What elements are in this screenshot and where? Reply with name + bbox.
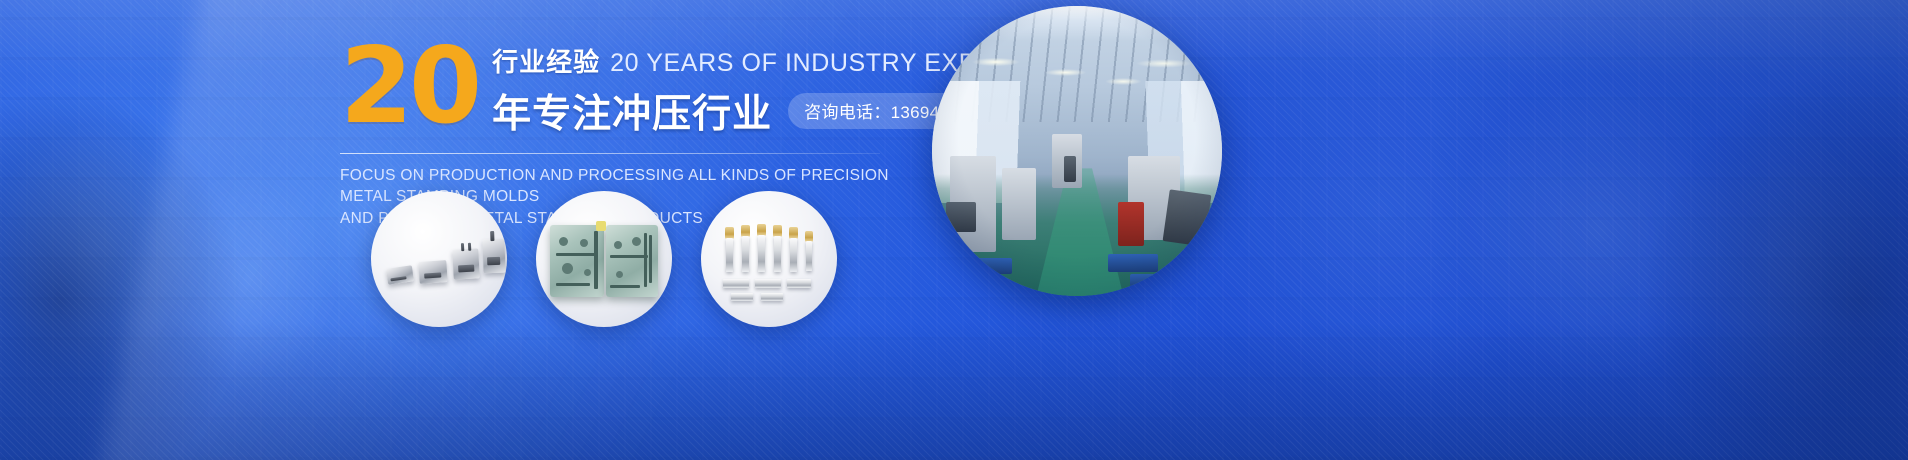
headline-row: 20 行业经验 20 YEARS OF INDUSTRY EXPERIENCE …: [340, 36, 900, 139]
pin-2: [742, 236, 749, 272]
divider-rule: [340, 153, 880, 154]
connector-shell-1: [386, 265, 414, 284]
pin-1: [726, 238, 733, 272]
connector-shells-group: [371, 191, 507, 327]
product-circle-mold[interactable]: [536, 191, 672, 327]
mold-half-right: [606, 225, 658, 297]
headline-cn-tag: 行业经验: [492, 42, 600, 79]
pin-6: [806, 241, 812, 271]
product-circle-pins[interactable]: [701, 191, 837, 327]
mold-marker: [596, 221, 606, 231]
right-panel-shade: [1208, 0, 1908, 460]
connector-shell-2: [418, 260, 447, 284]
pin-bottom-2: [755, 279, 781, 288]
pin-terminals-group: [701, 191, 837, 327]
pin-bottom-1: [723, 279, 749, 288]
pin-3: [758, 235, 765, 272]
pin-bottom-3: [787, 279, 811, 288]
factory-photo-circle[interactable]: [932, 6, 1222, 296]
pin-bottom-5: [761, 293, 783, 301]
product-circle-connectors[interactable]: [371, 191, 507, 327]
years-number: 20: [340, 38, 478, 135]
connector-shell-3: [452, 248, 480, 279]
pin-5: [790, 238, 797, 272]
mold-half-left: [550, 225, 604, 297]
factory-vignette: [932, 6, 1222, 296]
pin-bottom-4: [731, 293, 753, 301]
pin-4: [774, 236, 781, 272]
promo-banner: 20 行业经验 20 YEARS OF INDUSTRY EXPERIENCE …: [0, 0, 1908, 460]
headline-cn-main: 年专注冲压行业: [492, 83, 772, 139]
mold-block-group: [536, 191, 672, 327]
connector-shell-4: [482, 239, 505, 274]
